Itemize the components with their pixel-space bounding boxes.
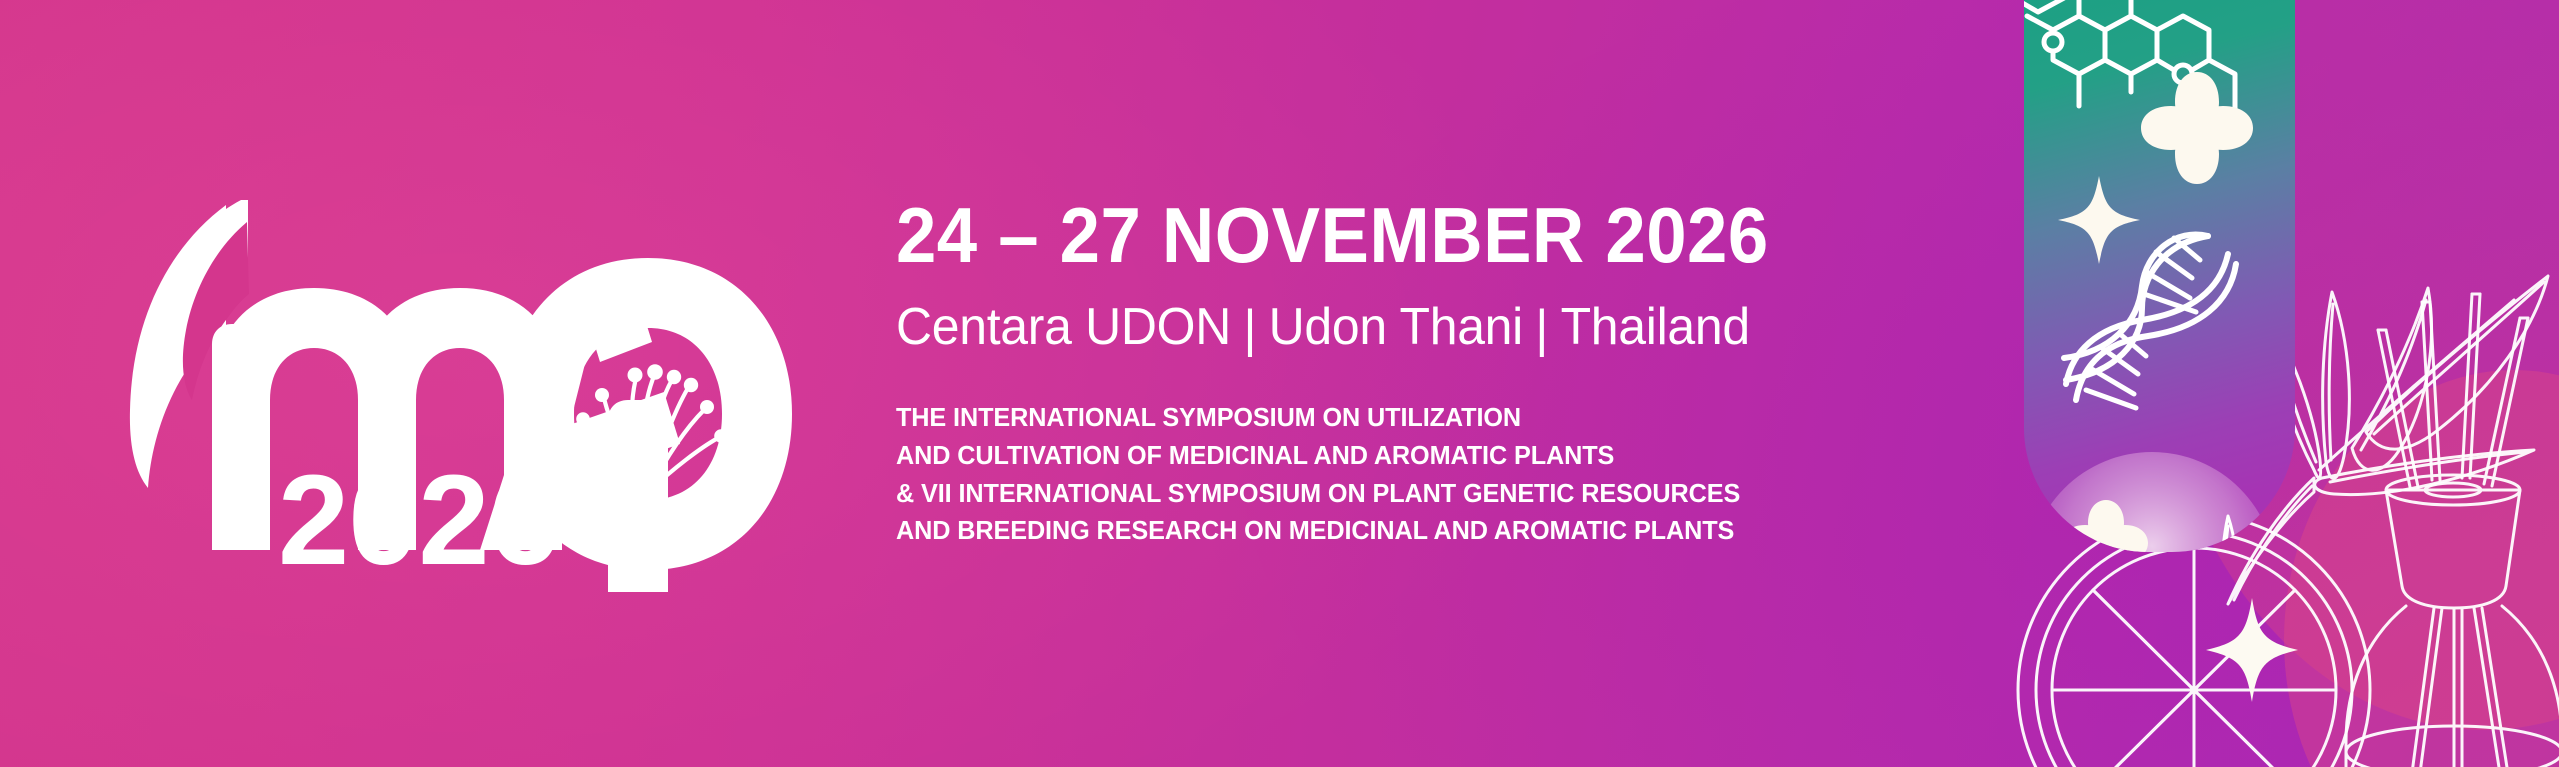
venue-city: Udon Thani bbox=[1269, 298, 1523, 356]
venue-separator-2: | bbox=[1523, 302, 1561, 357]
symposium-title-line-3: & VII INTERNATIONAL SYMPOSIUM ON PLANT G… bbox=[896, 475, 2002, 513]
venue-separator-1: | bbox=[1231, 302, 1269, 357]
map-2026-logo: 2026 bbox=[108, 196, 848, 596]
symposium-title-line-2: AND CULTIVATION OF MEDICINAL AND AROMATI… bbox=[896, 437, 2002, 475]
event-dates: 24 – 27 NOVEMBER 2026 bbox=[896, 196, 1956, 274]
event-text-block: 24 – 27 NOVEMBER 2026 Centara UDON|Udon … bbox=[896, 196, 2036, 550]
svg-text:2026: 2026 bbox=[278, 449, 559, 592]
symposium-title-line-4: AND BREEDING RESEARCH ON MEDICINAL AND A… bbox=[896, 512, 2002, 550]
venue-hotel: Centara UDON bbox=[896, 298, 1231, 356]
symposium-title-line-1: THE INTERNATIONAL SYMPOSIUM ON UTILIZATI… bbox=[896, 399, 2002, 437]
conference-banner: 2026 24 – 27 NOVEMBER 2026 Centara UDON|… bbox=[0, 0, 2559, 767]
event-venue: Centara UDON|Udon Thani|Thailand bbox=[896, 300, 1990, 355]
venue-country: Thailand bbox=[1561, 298, 1750, 356]
science-gradient-panel: CH bbox=[2024, 0, 2295, 600]
symposium-title: THE INTERNATIONAL SYMPOSIUM ON UTILIZATI… bbox=[896, 399, 2002, 551]
